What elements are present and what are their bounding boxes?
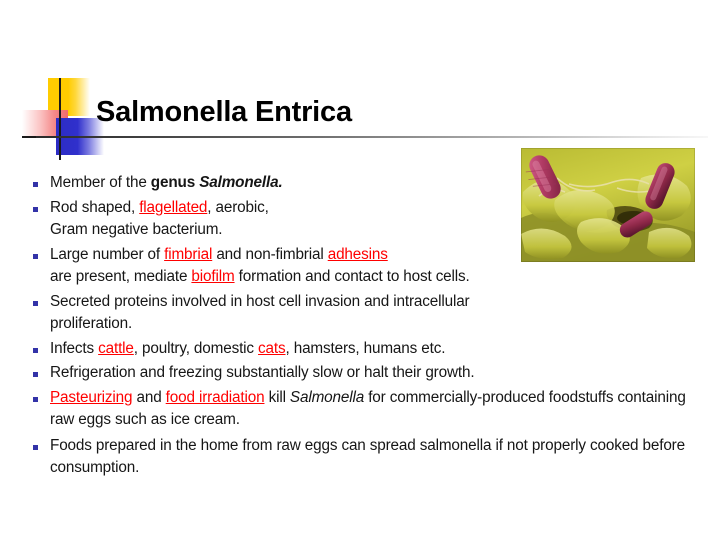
list-item: Rod shaped, flagellated, aerobic,Gram ne… bbox=[28, 197, 704, 242]
bullet-2-seg-2: , aerobic, bbox=[207, 199, 268, 216]
list-item: Foods prepared in the home from raw eggs… bbox=[28, 435, 704, 480]
link-biofilm[interactable]: biofilm bbox=[191, 268, 234, 285]
bullet-3-seg-5: are present, mediate bbox=[50, 268, 191, 285]
bullet-4-text: Secreted proteins involved in host cell … bbox=[50, 291, 555, 336]
list-item: Refrigeration and freezing substantially… bbox=[28, 362, 704, 385]
bullet-3-seg-2: and non-fimbrial bbox=[212, 246, 328, 263]
bullet-5-seg-0: Infects bbox=[50, 340, 98, 357]
bullet-5-seg-2: , poultry, domestic bbox=[134, 340, 258, 357]
bullet-list: Member of the genus Salmonella. Rod shap… bbox=[28, 172, 704, 481]
bullet-1-seg-1: genus bbox=[151, 174, 199, 191]
bullet-1-text: Member of the genus Salmonella. bbox=[50, 172, 520, 195]
bullet-square-icon bbox=[33, 372, 38, 377]
list-item: Member of the genus Salmonella. bbox=[28, 172, 704, 195]
list-item: Secreted proteins involved in host cell … bbox=[28, 291, 704, 336]
decoration-vertical-line bbox=[59, 78, 61, 160]
bullet-7-seg-3: kill bbox=[264, 389, 289, 406]
link-fimbrial[interactable]: fimbrial bbox=[164, 246, 212, 263]
title-underline-rule bbox=[36, 136, 708, 138]
bullet-square-icon bbox=[33, 254, 38, 259]
bullet-7-text: Pasteurizing and food irradiation kill S… bbox=[50, 387, 704, 432]
bullet-2-seg-4: Gram negative bacterium. bbox=[50, 221, 222, 238]
bullet-2-seg-0: Rod shaped, bbox=[50, 199, 139, 216]
title-decoration-graphic bbox=[22, 78, 107, 160]
bullet-square-icon bbox=[33, 348, 38, 353]
bullet-2-text: Rod shaped, flagellated, aerobic,Gram ne… bbox=[50, 197, 520, 242]
bullet-square-icon bbox=[33, 182, 38, 187]
bullet-3-text: Large number of fimbrial and non-fimbria… bbox=[50, 244, 704, 289]
slide-canvas: Salmonella Entrica bbox=[0, 0, 720, 540]
page-title: Salmonella Entrica bbox=[96, 96, 352, 129]
bullet-square-icon bbox=[33, 207, 38, 212]
bullet-7-seg-1: and bbox=[132, 389, 165, 406]
list-item: Pasteurizing and food irradiation kill S… bbox=[28, 387, 704, 432]
bullet-8-text: Foods prepared in the home from raw eggs… bbox=[50, 435, 704, 480]
bullet-square-icon bbox=[33, 301, 38, 306]
bullet-5-seg-4: , hamsters, humans etc. bbox=[286, 340, 446, 357]
bullet-5-text: Infects cattle, poultry, domestic cats, … bbox=[50, 338, 704, 361]
bullet-3-seg-0: Large number of bbox=[50, 246, 164, 263]
bullet-square-icon bbox=[33, 397, 38, 402]
link-flagellated[interactable]: flagellated bbox=[139, 199, 207, 216]
list-item: Infects cattle, poultry, domestic cats, … bbox=[28, 338, 704, 361]
link-cattle[interactable]: cattle bbox=[98, 340, 134, 357]
bullet-1-seg-2: Salmonella. bbox=[199, 174, 282, 191]
list-item: Large number of fimbrial and non-fimbria… bbox=[28, 244, 704, 289]
bullet-3-seg-7: formation and contact to host cells. bbox=[235, 268, 470, 285]
link-pasteurizing[interactable]: Pasteurizing bbox=[50, 389, 132, 406]
link-food-irradiation[interactable]: food irradiation bbox=[166, 389, 265, 406]
bullet-1-seg-0: Member of the bbox=[50, 174, 151, 191]
link-cats[interactable]: cats bbox=[258, 340, 285, 357]
bullet-square-icon bbox=[33, 445, 38, 450]
link-adhesins[interactable]: adhesins bbox=[328, 246, 388, 263]
bullet-6-text: Refrigeration and freezing substantially… bbox=[50, 362, 704, 385]
bullet-7-seg-4: Salmonella bbox=[290, 389, 364, 406]
